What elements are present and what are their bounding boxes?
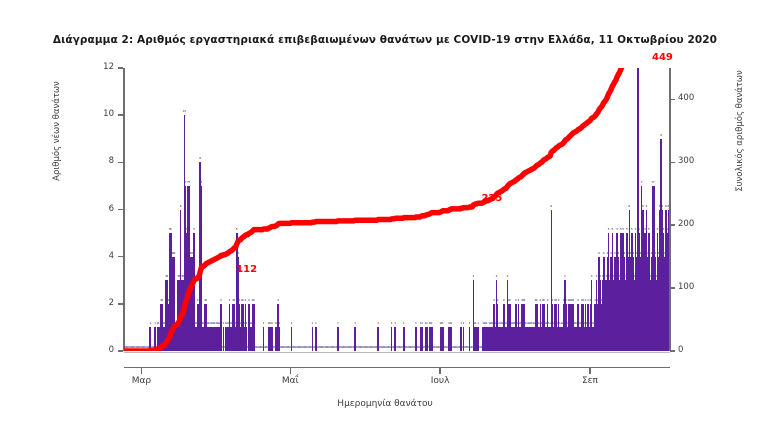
cumulative-value-annotation: 112 [236, 264, 257, 275]
y-tick-label-secondary: 0 [678, 345, 704, 355]
x-tick-label: Μαρ [132, 376, 151, 386]
x-tick [290, 367, 291, 374]
cumulative-line-path [125, 68, 669, 351]
y-tick-label-primary: 10 [92, 109, 114, 119]
y-tick-primary [118, 256, 123, 258]
plot-area: 0000000000000000000001000101102211332554… [124, 68, 669, 351]
y-tick-label-secondary: 200 [678, 219, 704, 229]
y-tick-label-primary: 6 [92, 204, 114, 214]
x-axis-line [124, 367, 670, 368]
y-tick-primary [118, 162, 123, 164]
y-tick-secondary [670, 350, 675, 352]
y-tick-primary [118, 350, 123, 352]
x-tick-label: Σεπ [582, 376, 598, 386]
x-axis-label: Ημερομηνία θανάτου [0, 399, 770, 409]
chart-title: Διάγραμμα 2: Αριθμός εργαστηριακά επιβεβ… [0, 34, 770, 46]
y-tick-label-secondary: 300 [678, 156, 704, 166]
cumulative-value-annotation: 449 [652, 52, 673, 63]
y-tick-label-primary: 4 [92, 251, 114, 261]
y-tick-label-primary: 12 [92, 62, 114, 72]
category-axis-rule [124, 352, 670, 353]
x-tick [141, 367, 142, 374]
y-tick-secondary [670, 162, 675, 164]
y-tick-secondary [670, 99, 675, 101]
x-tick [589, 367, 590, 374]
cumulative-deaths-line [124, 68, 669, 351]
y-tick-primary [118, 67, 123, 69]
y-tick-label-secondary: 400 [678, 93, 704, 103]
x-tick-label: Μαΐ [282, 376, 299, 386]
chart-figure: Διάγραμμα 2: Αριθμός εργαστηριακά επιβεβ… [0, 0, 770, 433]
y-axis-label-secondary: Συνολικός αριθμός θανάτων [735, 31, 745, 231]
y-tick-secondary [670, 224, 675, 226]
y-axis-secondary-line [669, 68, 671, 351]
y-axis-label-primary: Αριθμός νέων θανάτων [52, 46, 62, 216]
y-tick-primary [118, 303, 123, 305]
cumulative-value-annotation: 225 [481, 193, 502, 204]
y-tick-label-secondary: 100 [678, 282, 704, 292]
y-tick-secondary [670, 287, 675, 289]
y-tick-label-primary: 8 [92, 156, 114, 166]
y-tick-primary [118, 114, 123, 116]
x-tick-label: Ιουλ [431, 376, 450, 386]
y-tick-label-primary: 2 [92, 298, 114, 308]
y-tick-label-primary: 0 [92, 345, 114, 355]
x-tick [439, 367, 440, 374]
y-tick-primary [118, 209, 123, 211]
